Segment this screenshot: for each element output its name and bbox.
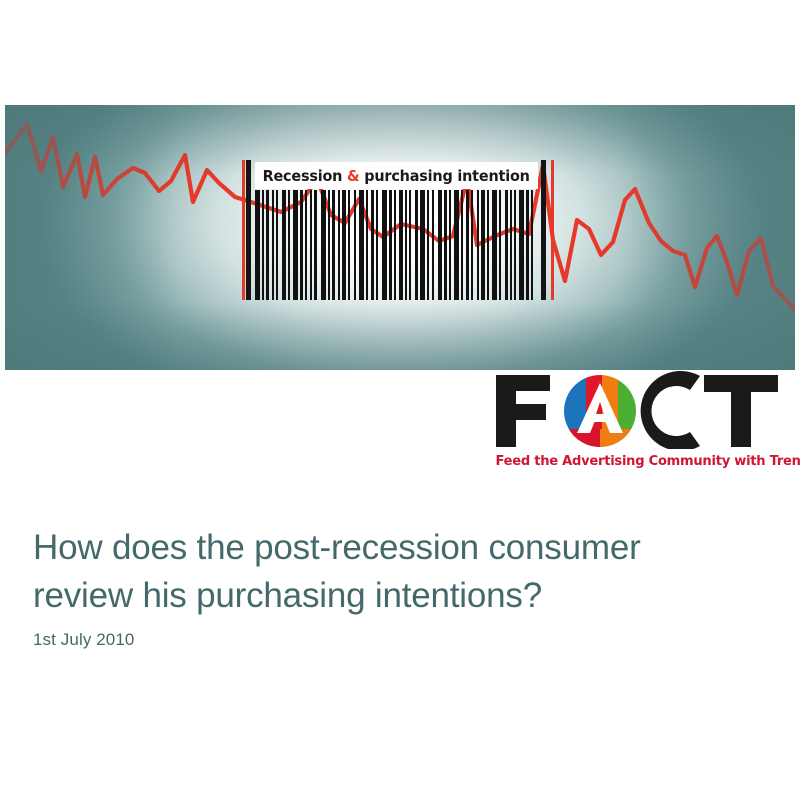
logo-letter-t: [704, 375, 778, 447]
barcode-bar: [288, 190, 290, 300]
barcode-bar: [255, 190, 260, 300]
barcode-bar: [389, 190, 392, 300]
barcode-title-pre: Recession: [263, 167, 347, 185]
barcode-bar: [420, 190, 425, 300]
barcode-bar: [492, 190, 497, 300]
fact-logo: Feed the Advertising Community with Tren…: [492, 371, 792, 475]
barcode-bar: [314, 190, 317, 300]
barcode-bar: [394, 190, 396, 300]
barcode-bar: [466, 190, 469, 300]
presentation-slide: Recession & purchasing intention: [0, 0, 800, 800]
barcode-bar: [481, 190, 485, 300]
barcode-bar: [376, 190, 378, 300]
barcode-bar: [328, 190, 330, 300]
logo-letter-f: [496, 375, 550, 447]
barcode-bar: [477, 190, 479, 300]
barcode-bar: [272, 190, 274, 300]
barcode-bar: [531, 190, 533, 300]
barcode-bar: [454, 190, 459, 300]
barcode-bar: [505, 190, 508, 300]
barcode-bar: [321, 190, 326, 300]
barcode-bar: [432, 190, 434, 300]
page-title-line-1: How does the post-recession consumer: [33, 524, 763, 572]
barcode-bar: [444, 190, 447, 300]
barcode-bars: [255, 190, 538, 300]
barcode-bar: [266, 190, 269, 300]
barcode-bar: [519, 190, 524, 300]
barcode-bar: [405, 190, 407, 300]
page-title-line-2: review his purchasing intentions?: [33, 572, 763, 620]
barcode-bar: [487, 190, 489, 300]
barcode-rail-left-icon: [242, 160, 245, 300]
logo-circle-a-icon: [562, 371, 640, 449]
fact-wordmark: [492, 371, 792, 449]
barcode-bar: [276, 190, 278, 300]
barcode-bar: [415, 190, 418, 300]
barcode-graphic: Recession & purchasing intention: [241, 160, 556, 300]
barcode-rail-right-icon: [551, 160, 554, 300]
barcode-bar: [449, 190, 451, 300]
barcode-bar: [471, 190, 473, 300]
barcode-bar: [499, 190, 501, 300]
barcode-bar: [282, 190, 286, 300]
barcode-bar: [342, 190, 346, 300]
barcode-bar: [262, 190, 264, 300]
barcode-bar: [371, 190, 374, 300]
barcode-bar: [399, 190, 403, 300]
barcode-title-plate: Recession & purchasing intention: [255, 162, 538, 189]
barcode-bar: [526, 190, 529, 300]
barcode-bar: [300, 190, 303, 300]
barcode-bar: [293, 190, 298, 300]
barcode-bar: [409, 190, 411, 300]
barcode-bar: [461, 190, 463, 300]
barcode-bar: [382, 190, 387, 300]
barcode-title: Recession & purchasing intention: [263, 167, 530, 185]
barcode-bar: [338, 190, 340, 300]
barcode-bar: [310, 190, 312, 300]
barcode-title-ampersand: &: [347, 167, 359, 185]
barcode-bar: [354, 190, 356, 300]
barcode-bar: [366, 190, 368, 300]
slide-date: 1st July 2010: [33, 630, 134, 650]
barcode-bar: [438, 190, 442, 300]
barcode-endbar-right-icon: [541, 160, 546, 300]
barcode-endbar-left-icon: [246, 160, 251, 300]
logo-letter-c: [641, 371, 700, 449]
barcode-bar: [359, 190, 364, 300]
barcode-bar: [427, 190, 429, 300]
barcode-bar: [514, 190, 516, 300]
barcode-bar: [305, 190, 307, 300]
barcode-title-post: purchasing intention: [360, 167, 530, 185]
barcode-bar: [510, 190, 512, 300]
page-title: How does the post-recession consumer rev…: [33, 524, 763, 620]
barcode-bar: [348, 190, 350, 300]
barcode-bar: [332, 190, 335, 300]
fact-logo-tagline: Feed the Advertising Community with Tren…: [495, 454, 790, 469]
